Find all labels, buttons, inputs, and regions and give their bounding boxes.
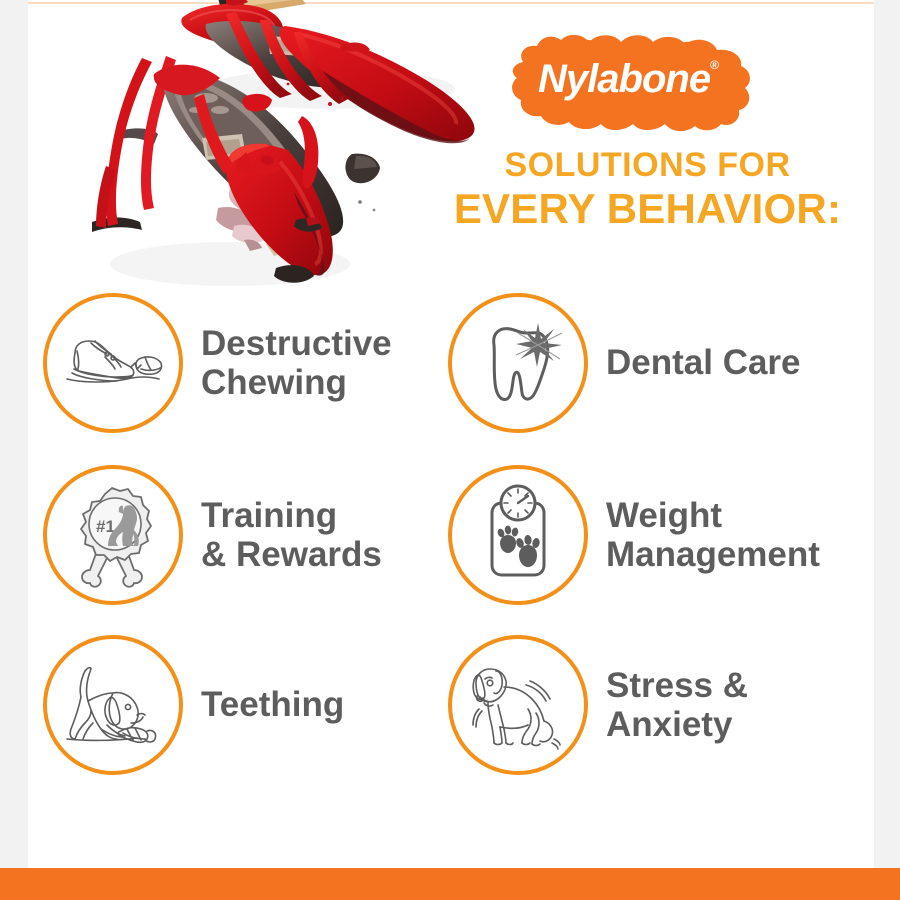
headline-line-2: EVERY BEHAVIOR: bbox=[415, 188, 880, 230]
behavior-label-training-rewards: Training & Rewards bbox=[201, 496, 382, 574]
logo-wordmark: Nylabone® bbox=[505, 28, 760, 138]
logo-wordmark-text: Nylabone bbox=[538, 57, 710, 102]
nylabone-logo: Nylabone® bbox=[505, 28, 760, 138]
anxious-dog-icon bbox=[448, 635, 588, 775]
behavior-item-dental-care[interactable]: Dental Care bbox=[448, 293, 801, 433]
registered-trademark-mark: ® bbox=[710, 58, 719, 72]
behavior-label-teething: Teething bbox=[201, 685, 344, 724]
footer-orange-band bbox=[0, 868, 900, 900]
behavior-label-weight-management: Weight Management bbox=[606, 496, 820, 574]
behavior-item-training-rewards[interactable]: #1 Training & Rewards bbox=[43, 465, 382, 605]
behavior-item-destructive-chewing[interactable]: Destructive Chewing bbox=[43, 293, 392, 433]
headline-line-1: SOLUTIONS FOR bbox=[420, 148, 875, 182]
puppy-chewing-toy-icon bbox=[43, 635, 183, 775]
behavior-label-dental-care: Dental Care bbox=[606, 343, 801, 382]
chewed-shoe-icon bbox=[43, 293, 183, 433]
behavior-label-stress-anxiety: Stress & Anxiety bbox=[606, 666, 748, 744]
sparkling-tooth-icon bbox=[448, 293, 588, 433]
behavior-item-stress-anxiety[interactable]: Stress & Anxiety bbox=[448, 635, 748, 775]
behavior-label-destructive-chewing: Destructive Chewing bbox=[201, 324, 392, 402]
paw-scale-icon bbox=[448, 465, 588, 605]
award-rosette-dog-icon: #1 bbox=[43, 465, 183, 605]
behavior-item-teething[interactable]: Teething bbox=[43, 635, 344, 775]
promo-page: Nylabone® SOLUTIONS FOR EVERY BEHAVIOR: bbox=[0, 0, 900, 900]
behavior-grid: Destructive Chewing bbox=[0, 285, 900, 815]
behavior-item-weight-management[interactable]: Weight Management bbox=[448, 465, 820, 605]
